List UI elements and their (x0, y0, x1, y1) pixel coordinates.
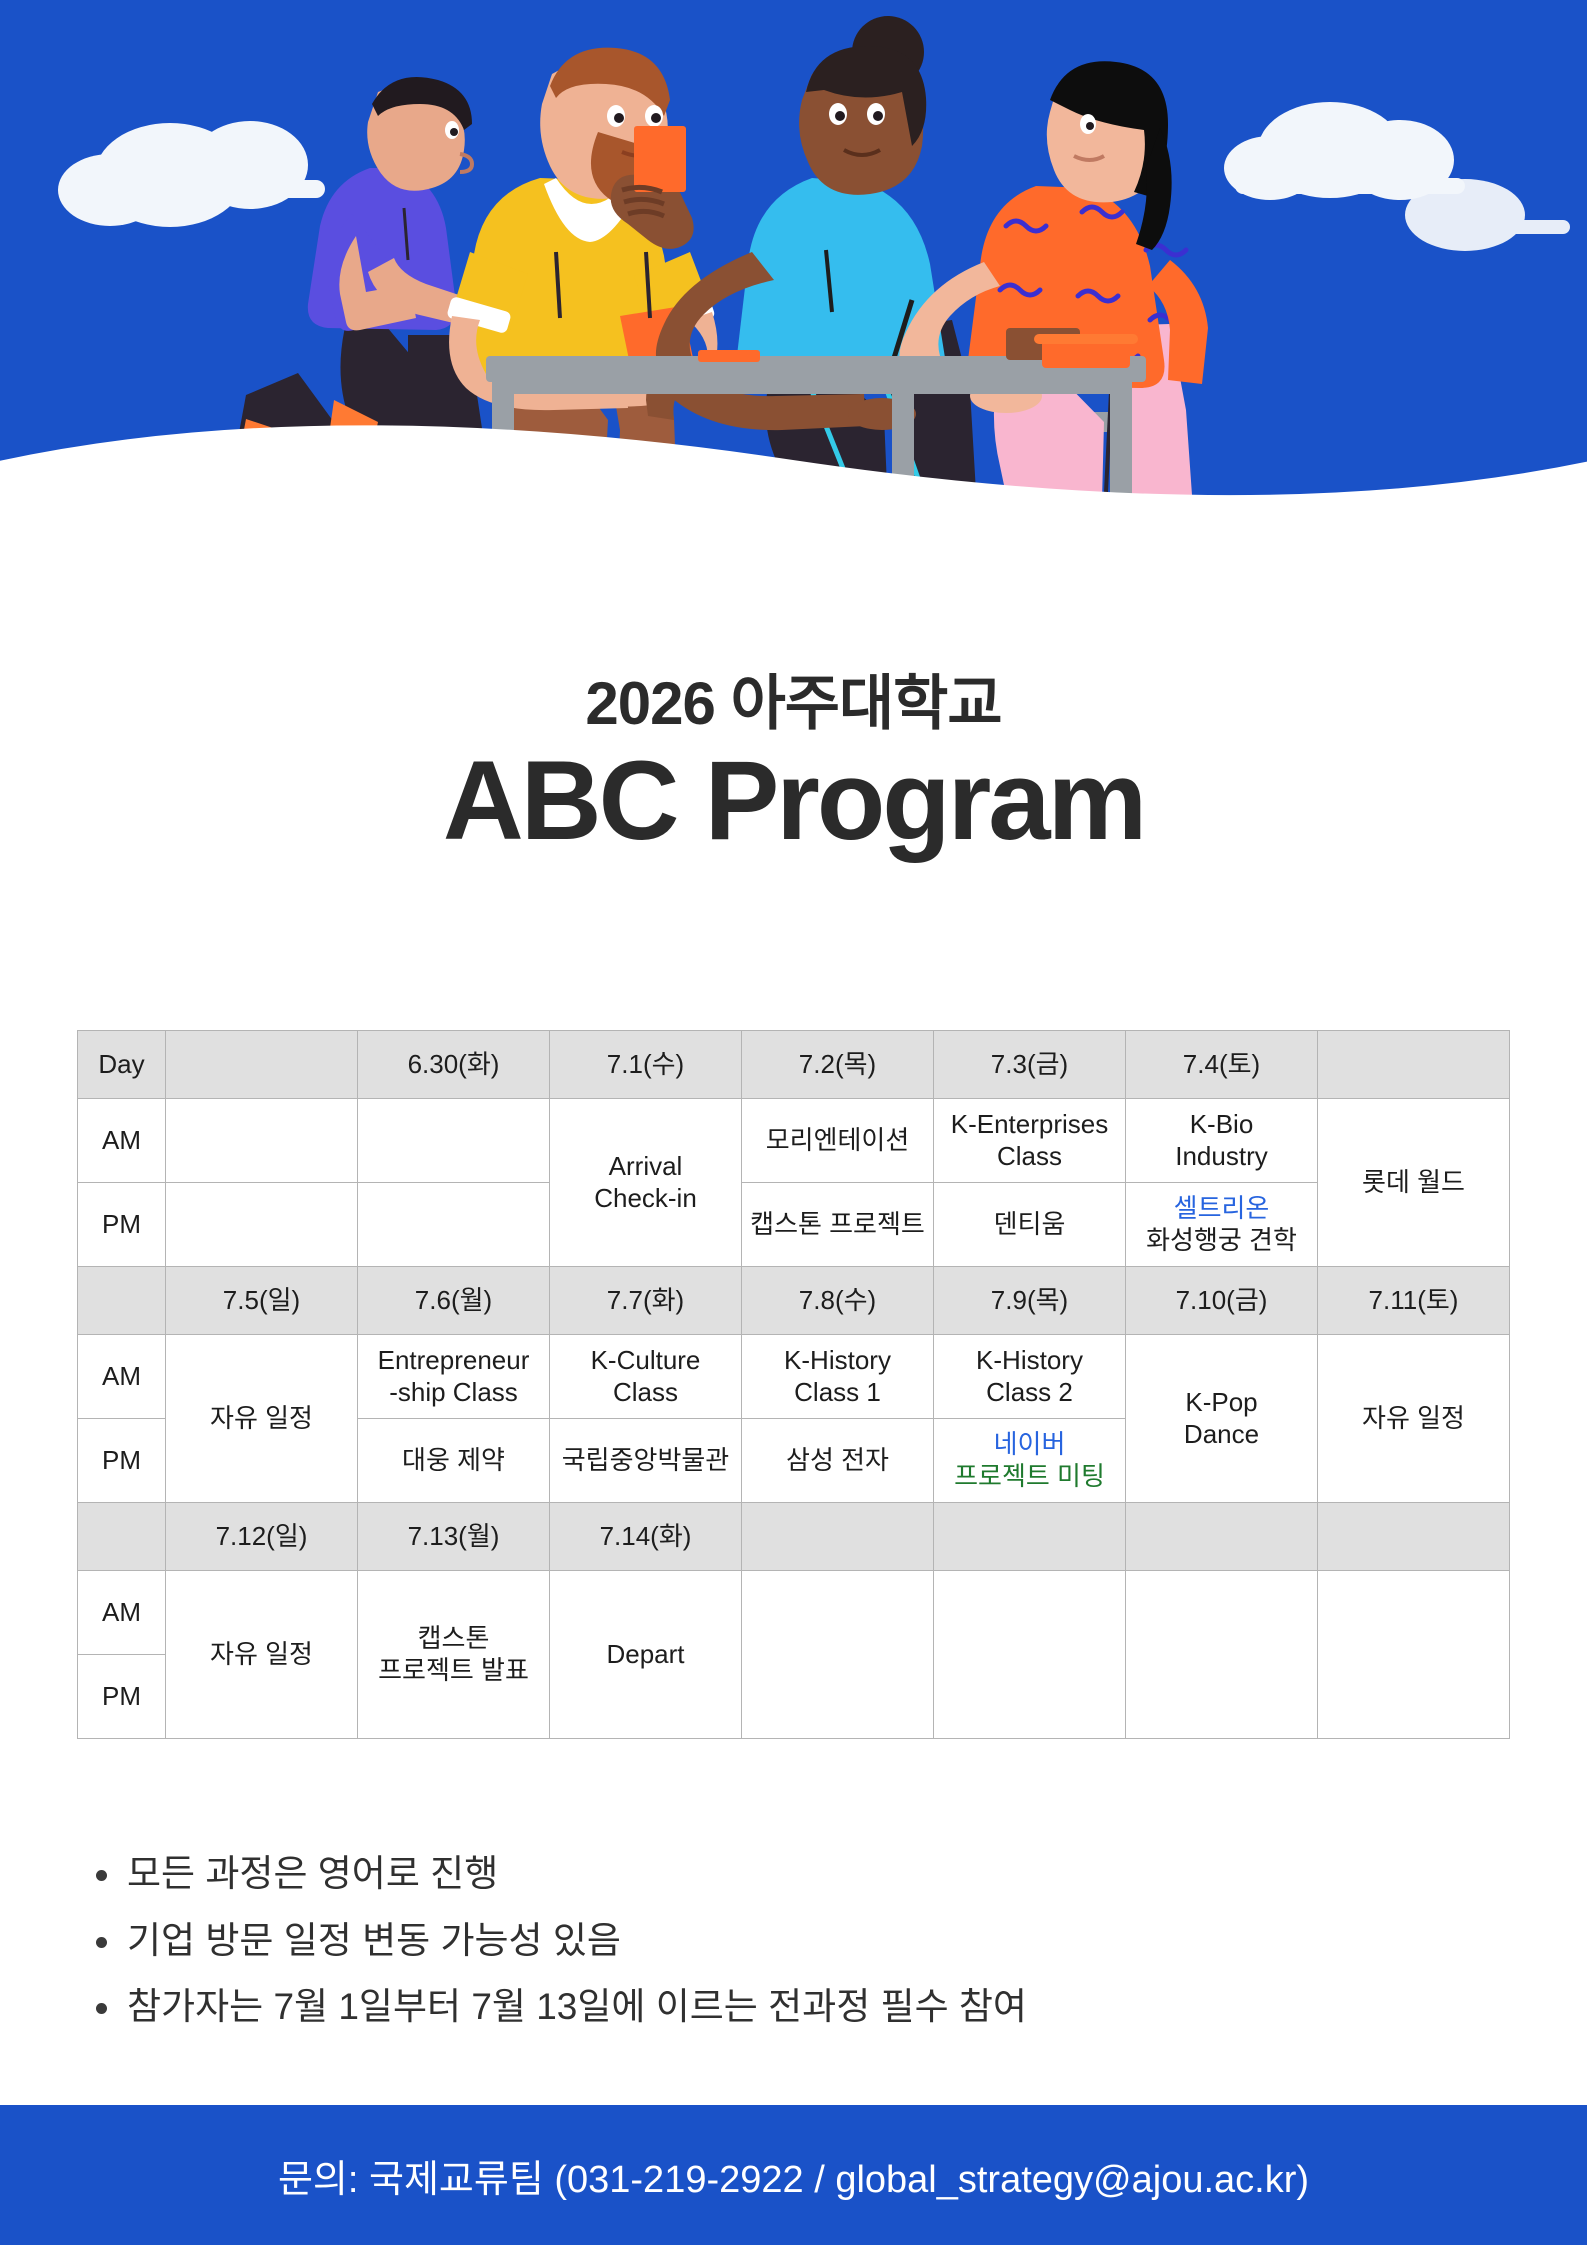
activity-cell-daewoong: 대웅 제약 (358, 1419, 550, 1503)
activity-cell-k-history-1: K-History Class 1 (742, 1335, 934, 1419)
activity-cell-k-culture: K-Culture Class (550, 1335, 742, 1419)
date-cell: 7.3(금) (934, 1031, 1126, 1099)
activity-cell-k-history-2: K-History Class 2 (934, 1335, 1126, 1419)
activity-cell-arrival: Arrival Check-in (550, 1099, 742, 1267)
table-row-header: 7.12(일) 7.13(월) 7.14(화) (78, 1503, 1510, 1571)
contact-footer: 문의: 국제교류팀 (031-219-2922 / global_strateg… (0, 2105, 1587, 2245)
table-row-header: 7.5(일) 7.6(월) 7.7(화) 7.8(수) 7.9(목) 7.10(… (78, 1267, 1510, 1335)
date-cell: 7.14(화) (550, 1503, 742, 1571)
hero-illustration (0, 0, 1587, 660)
date-cell (934, 1503, 1126, 1571)
table-row-header: Day 6.30(화) 7.1(수) 7.2(목) 7.3(금) 7.4(토) (78, 1031, 1510, 1099)
activity-cell-lotte-world: 롯데 월드 (1318, 1099, 1510, 1267)
spacer-cell (78, 1503, 166, 1571)
activity-cell (1318, 1571, 1510, 1739)
activity-cell (934, 1571, 1126, 1739)
activity-cell-samsung: 삼성 전자 (742, 1419, 934, 1503)
list-item: 모든 과정은 영어로 진행 (96, 1848, 1426, 1901)
table-row-am: AM 자유 일정 Entrepreneur -ship Class K-Cult… (78, 1335, 1510, 1419)
activity-cell-k-pop-dance: K-Pop Dance (1126, 1335, 1318, 1503)
activity-cell-k-enterprises: K-Enterprises Class (934, 1099, 1126, 1183)
activity-cell-naver: 네이버 프로젝트 미팅 (934, 1419, 1126, 1503)
note-text: 기업 방문 일정 변동 가능성 있음 (127, 1915, 621, 1968)
bullet-icon (96, 1870, 107, 1881)
table-row-pm: PM 캡스톤 프로젝트 덴티움 셀트리온 화성행궁 견학 (78, 1183, 1510, 1267)
activity-cell-entrepreneurship: Entrepreneur -ship Class (358, 1335, 550, 1419)
activity-cell-celltrion: 셀트리온 화성행궁 견학 (1126, 1183, 1318, 1267)
am-label-cell: AM (78, 1335, 166, 1419)
date-cell: 6.30(화) (358, 1031, 550, 1099)
activity-cell (166, 1099, 358, 1183)
date-cell: 7.12(일) (166, 1503, 358, 1571)
activity-cell-depart: Depart (550, 1571, 742, 1739)
spacer-cell (78, 1267, 166, 1335)
contact-text: 문의: 국제교류팀 (031-219-2922 / global_strateg… (278, 2148, 1309, 2203)
date-cell: 7.8(수) (742, 1267, 934, 1335)
activity-cell (358, 1183, 550, 1267)
table-row-am: AM 자유 일정 캡스톤 프로젝트 발표 Depart (78, 1571, 1510, 1655)
date-cell: 7.6(월) (358, 1267, 550, 1335)
title-main: ABC Program (0, 741, 1587, 862)
day-label-cell: Day (78, 1031, 166, 1099)
note-text: 참가자는 7월 1일부터 7월 13일에 이르는 전과정 필수 참여 (127, 1981, 1027, 2034)
bullet-icon (96, 1937, 107, 1948)
schedule-table: Day 6.30(화) 7.1(수) 7.2(목) 7.3(금) 7.4(토) … (77, 1030, 1510, 1739)
note-text: 모든 과정은 영어로 진행 (127, 1848, 498, 1901)
date-cell: 7.5(일) (166, 1267, 358, 1335)
activity-cell (742, 1571, 934, 1739)
date-cell: 7.2(목) (742, 1031, 934, 1099)
date-cell: 7.9(목) (934, 1267, 1126, 1335)
poster-root: 2026 아주대학교 ABC Program Day 6.30(화) 7.1(수… (0, 0, 1587, 2245)
students-at-table-illustration (0, 0, 1587, 660)
am-label-cell: AM (78, 1571, 166, 1655)
date-cell (1318, 1031, 1510, 1099)
title-subtitle: 2026 아주대학교 (0, 672, 1587, 735)
list-item: 기업 방문 일정 변동 가능성 있음 (96, 1915, 1426, 1968)
date-cell: 7.7(화) (550, 1267, 742, 1335)
list-item: 참가자는 7월 1일부터 7월 13일에 이르는 전과정 필수 참여 (96, 1981, 1426, 2034)
date-cell: 7.4(토) (1126, 1031, 1318, 1099)
am-label-cell: AM (78, 1099, 166, 1183)
activity-cell (166, 1183, 358, 1267)
pm-label-cell: PM (78, 1655, 166, 1739)
activity-cell-free-day: 자유 일정 (166, 1335, 358, 1503)
pm-label-cell: PM (78, 1419, 166, 1503)
activity-cell-free-day: 자유 일정 (166, 1571, 358, 1739)
poster-title: 2026 아주대학교 ABC Program (0, 672, 1587, 862)
date-cell (166, 1031, 358, 1099)
bullet-icon (96, 2003, 107, 2014)
date-cell (1126, 1503, 1318, 1571)
activity-cell (358, 1099, 550, 1183)
date-cell (742, 1503, 934, 1571)
activity-cell-free-day: 자유 일정 (1318, 1335, 1510, 1503)
table-row-am: AM Arrival Check-in 모리엔테이션 K-Enterprises… (78, 1099, 1510, 1183)
date-cell: 7.1(수) (550, 1031, 742, 1099)
activity-cell-k-bio: K-Bio Industry (1126, 1099, 1318, 1183)
activity-cell-national-museum: 국립중앙박물관 (550, 1419, 742, 1503)
activity-cell (1126, 1571, 1318, 1739)
activity-cell-capstone-presentation: 캡스톤 프로젝트 발표 (358, 1571, 550, 1739)
pm-label-cell: PM (78, 1183, 166, 1267)
date-cell (1318, 1503, 1510, 1571)
activity-cell-capstone-project: 캡스톤 프로젝트 (742, 1183, 934, 1267)
schedule-table-wrapper: Day 6.30(화) 7.1(수) 7.2(목) 7.3(금) 7.4(토) … (77, 1030, 1509, 1739)
date-cell: 7.11(토) (1318, 1267, 1510, 1335)
date-cell: 7.10(금) (1126, 1267, 1318, 1335)
activity-cell-orientation: 모리엔테이션 (742, 1099, 934, 1183)
date-cell: 7.13(월) (358, 1503, 550, 1571)
activity-cell-dentium: 덴티움 (934, 1183, 1126, 1267)
notes-list: 모든 과정은 영어로 진행 기업 방문 일정 변동 가능성 있음 참가자는 7월… (96, 1848, 1426, 2048)
